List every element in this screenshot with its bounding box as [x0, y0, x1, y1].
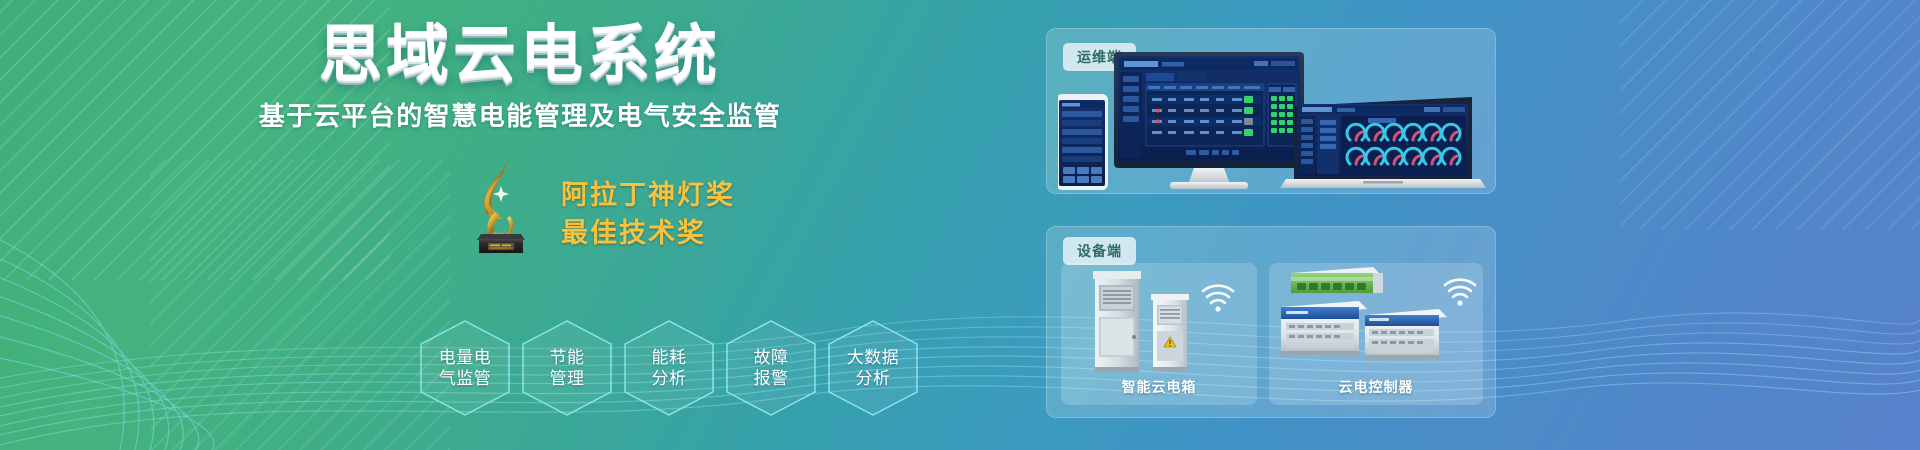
trophy-icon: [455, 150, 547, 255]
device-card-label: 智能云电箱: [1061, 377, 1257, 397]
page-subtitle: 基于云平台的智慧电能管理及电气安全监管: [0, 96, 1040, 133]
award-line-1: 阿拉丁神灯奖: [561, 180, 735, 212]
diagonal-hatch-decoration-right: [1620, 0, 1920, 230]
page-title: 思域云电系统: [0, 24, 1040, 87]
feature-label-line1: 节能: [550, 347, 585, 368]
feature-badge-label: 能耗 分析: [652, 347, 687, 390]
left-content-column: 思域云电系统 基于云平台的智慧电能管理及电气安全监管: [0, 0, 1040, 450]
feature-label-line1: 电量电: [439, 347, 492, 368]
feature-badge-consumption-analysis[interactable]: 能耗 分析: [622, 318, 716, 418]
feature-label-line2: 分析: [652, 368, 687, 389]
award-text-group: 阿拉丁神灯奖 最佳技术奖: [561, 156, 735, 250]
feature-badge-row: 电量电 气监管 节能 管理 能耗 分析: [418, 318, 920, 418]
promo-banner: 思域云电系统 基于云平台的智慧电能管理及电气安全监管: [0, 0, 1920, 450]
feature-label-line2: 管理: [550, 368, 585, 389]
device-terminal-panel: 设备端: [1046, 226, 1496, 418]
wifi-signal-icon: [1445, 280, 1475, 306]
feature-label-line2: 气监管: [439, 368, 492, 389]
feature-badge-label: 故障 报警: [754, 347, 789, 390]
award-line-2: 最佳技术奖: [561, 218, 735, 250]
device-card-cabinet[interactable]: 智能云电箱: [1061, 263, 1257, 405]
wifi-signal-icon: [1203, 286, 1233, 312]
feature-label-line1: 大数据: [847, 347, 900, 368]
feature-badge-fault-alarm[interactable]: 故障 报警: [724, 318, 818, 418]
laptop-icon: [1280, 97, 1486, 188]
feature-label-line1: 能耗: [652, 347, 687, 368]
smartphone-icon: [1058, 94, 1108, 190]
device-card-controller[interactable]: 云电控制器: [1269, 263, 1483, 405]
feature-badge-label: 大数据 分析: [847, 347, 900, 390]
feature-badge-big-data-analysis[interactable]: 大数据 分析: [826, 318, 920, 418]
feature-label-line2: 分析: [847, 368, 900, 389]
feature-badge-label: 节能 管理: [550, 347, 585, 390]
feature-badge-label: 电量电 气监管: [439, 347, 492, 390]
award-block: 阿拉丁神灯奖 最佳技术奖: [455, 150, 875, 255]
device-card-label: 云电控制器: [1269, 377, 1483, 397]
feature-label-line1: 故障: [754, 347, 789, 368]
feature-badge-power-monitoring[interactable]: 电量电 气监管: [418, 318, 512, 418]
desktop-monitor-icon: [1114, 52, 1304, 189]
controller-module-icon: [1269, 263, 1483, 381]
feature-label-line2: 报警: [754, 368, 789, 389]
device-panel-tag: 设备端: [1063, 237, 1136, 265]
feature-badge-energy-saving[interactable]: 节能 管理: [520, 318, 614, 418]
ops-devices-illustration: [1058, 48, 1488, 194]
electric-cabinet-icon: [1061, 263, 1257, 381]
